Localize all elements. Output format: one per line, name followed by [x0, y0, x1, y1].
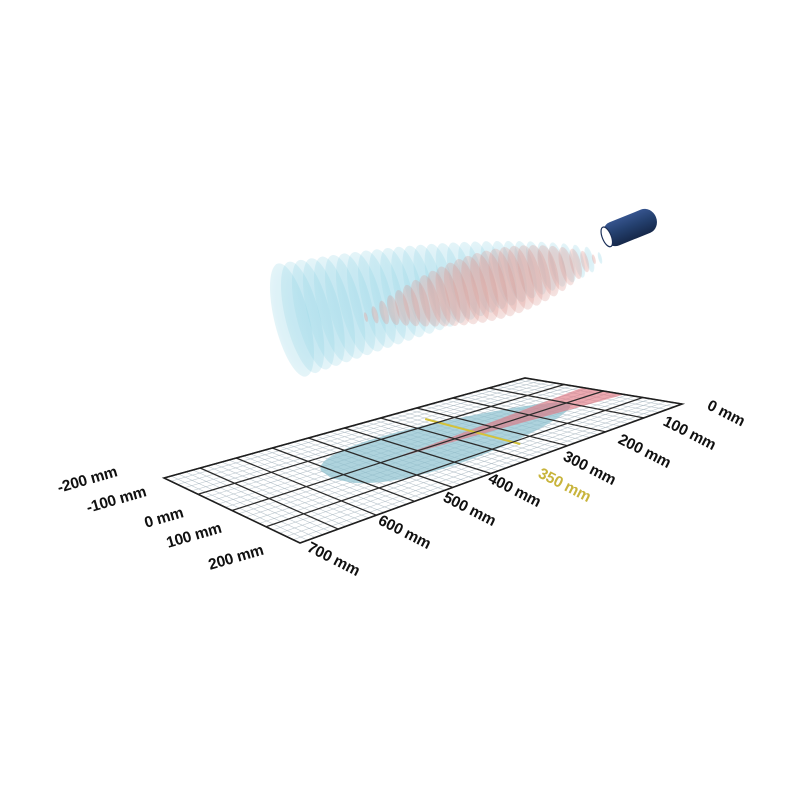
scene-canvas: [0, 0, 800, 800]
measurement-grid-plane: [164, 378, 682, 543]
ultrasound-beam-figure: 0 mm100 mm200 mm300 mm350 mm400 mm500 mm…: [0, 0, 800, 800]
ultrasound-beam-lobes: [261, 239, 603, 381]
ultrasound-transducer-probe[interactable]: [598, 205, 661, 250]
